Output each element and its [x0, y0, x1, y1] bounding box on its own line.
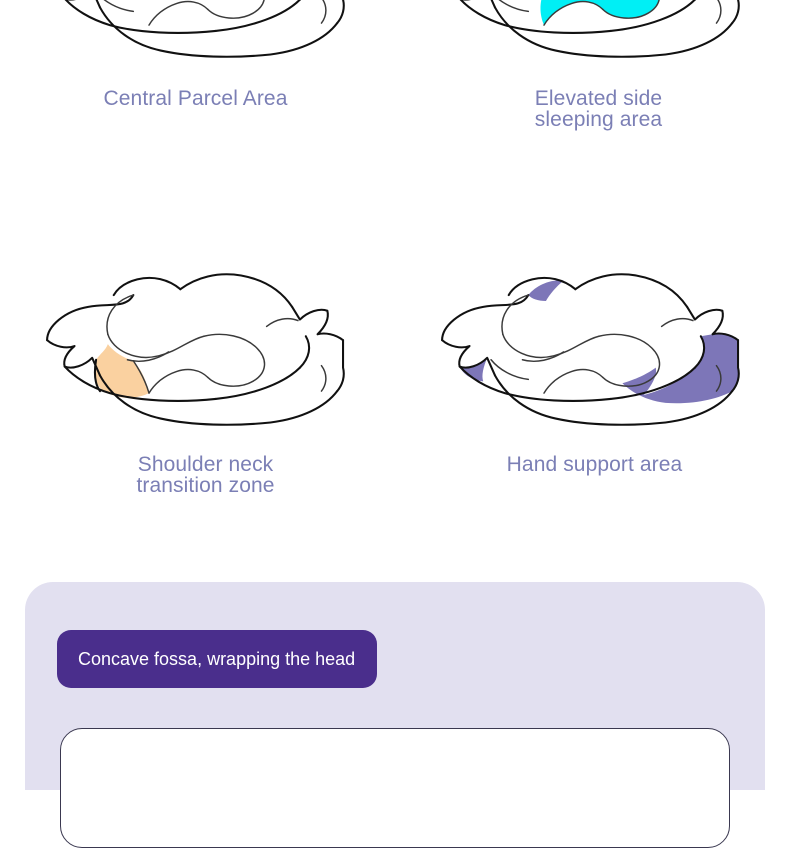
zone-panel-shoulder-neck-transition-zone: Shoulder neck transition zone: [0, 250, 395, 500]
highlight-hand-support-end: [622, 334, 738, 404]
zone-panel-central-parcel-area: Central Parcel Area: [0, 0, 395, 182]
zone-caption-central-parcel-area: Central Parcel Area: [0, 88, 393, 109]
highlight-top-sliver: [528, 280, 563, 301]
pillow-illustration-hand-support-area: [395, 250, 790, 446]
zone-panel-hand-support-area: Hand support area: [395, 250, 790, 500]
highlight-side-sleeping-lobe: [540, 0, 659, 25]
pillow-illustration-central-parcel-area: [0, 0, 395, 78]
feature-image-card: [60, 728, 730, 848]
zone-panel-elevated-side-sleeping-area: Elevated side sleeping area: [395, 0, 790, 182]
zone-caption-elevated-side-sleeping-area: Elevated side sleeping area: [401, 88, 790, 131]
feature-badge-concave-fossa: Concave fossa, wrapping the head: [57, 630, 377, 688]
zone-caption-hand-support-area: Hand support area: [397, 454, 790, 475]
pillow-illustration-shoulder-neck-transition-zone: [0, 250, 395, 446]
zone-caption-shoulder-neck-transition-zone: Shoulder neck transition zone: [8, 454, 403, 497]
pillow-zone-grid: Central Parcel Area: [0, 0, 790, 560]
highlight-shoulder-step: [94, 344, 148, 398]
feature-panel: Concave fossa, wrapping the head: [25, 582, 765, 790]
pillow-illustration-elevated-side-sleeping-area: [395, 0, 790, 78]
